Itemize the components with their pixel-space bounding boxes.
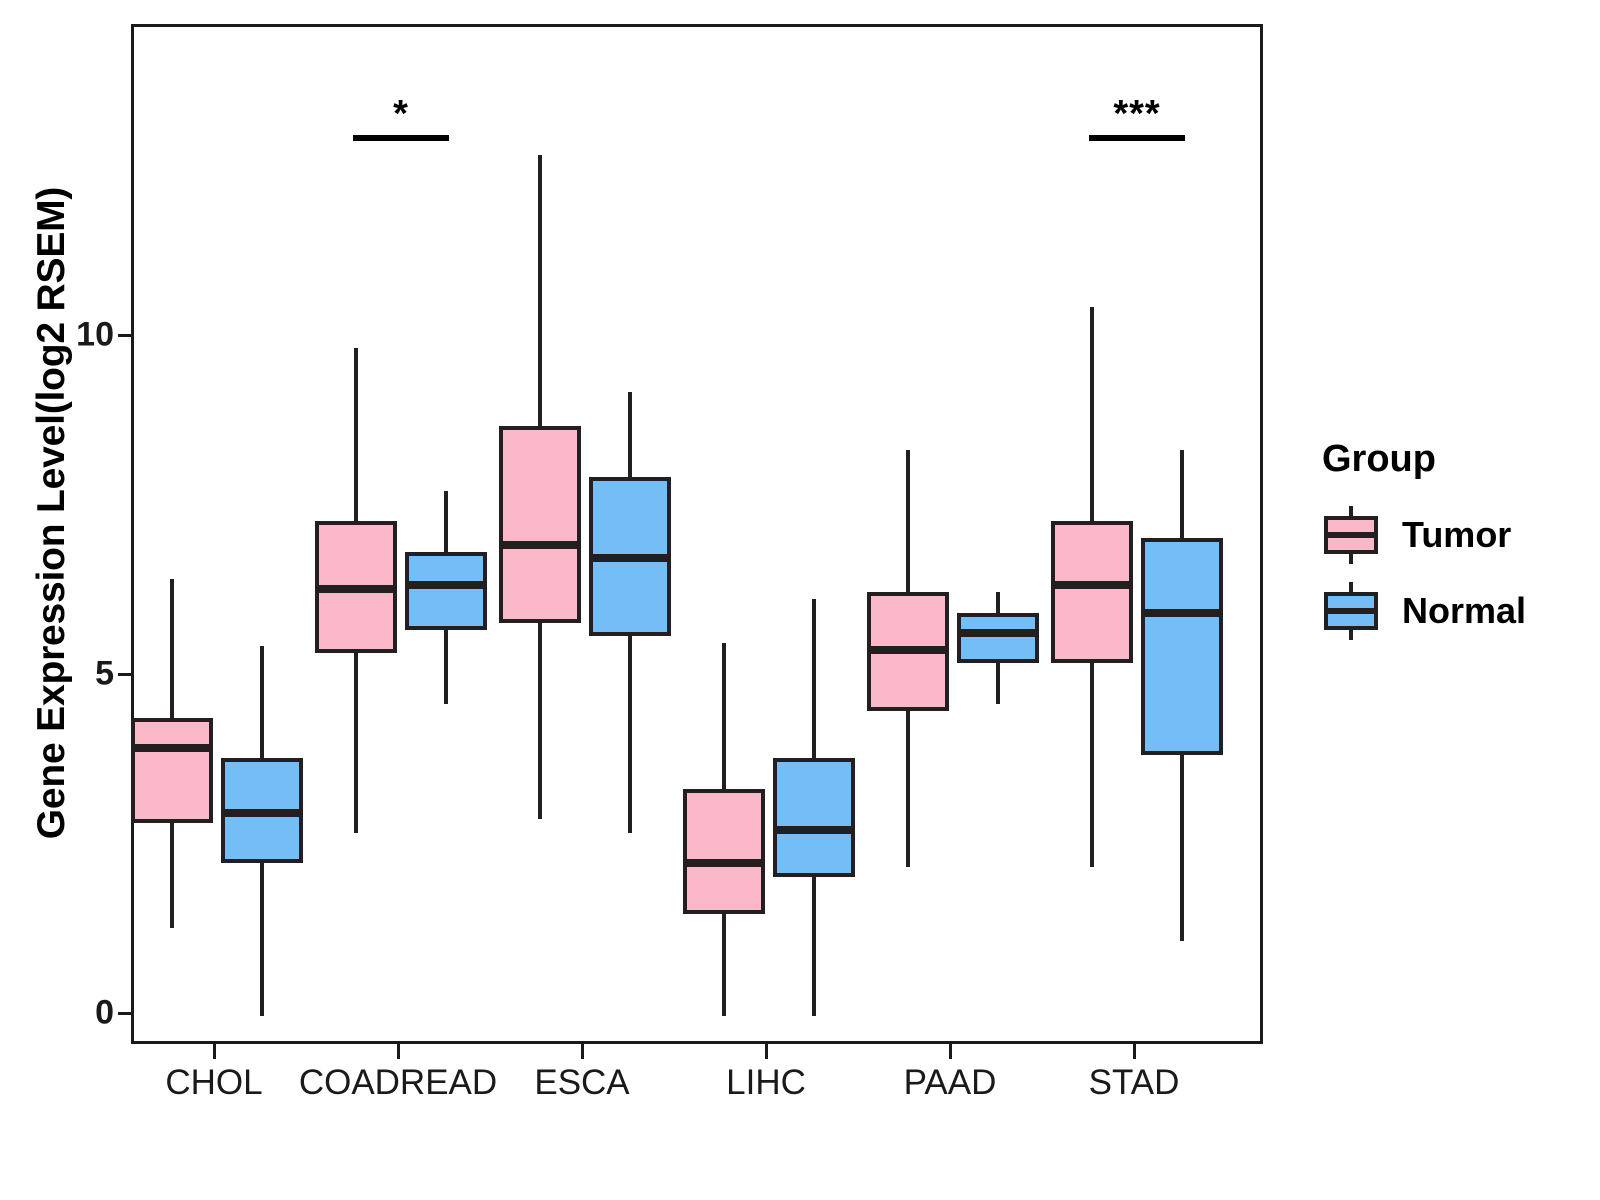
chart-root: Gene Expression Level(log2 RSEM) **** 05… [0,0,1600,1200]
x-tick-mark [1133,1044,1136,1059]
x-tick-mark [397,1044,400,1059]
x-tick-label: LIHC [726,1063,806,1103]
boxplot-box [1141,538,1223,755]
legend-title: Group [1322,440,1592,478]
x-tick-mark [765,1044,768,1059]
boxplot-box [499,426,581,623]
boxplot-median [221,809,303,817]
significance-label: *** [1113,95,1160,133]
x-tick-label: COADREAD [299,1063,497,1103]
legend-median [1324,532,1378,538]
legend-item-label: Tumor [1402,514,1511,556]
x-tick-mark [581,1044,584,1059]
x-tick-label: ESCA [534,1063,629,1103]
legend-item[interactable]: Normal [1322,580,1592,642]
x-tick-mark [949,1044,952,1059]
legend-item[interactable]: Tumor [1322,504,1592,566]
boxplot-median [867,646,949,654]
significance-bar [1089,135,1185,141]
y-tick-label: 5 [95,655,114,694]
significance-bar [353,135,449,141]
y-tick-mark [118,1012,132,1015]
x-tick-label: STAD [1089,1063,1180,1103]
boxplot-median [131,744,213,752]
boxplot-median [1051,581,1133,589]
boxplot-median [957,629,1039,637]
boxplot-median [773,826,855,834]
boxplot-median [589,554,671,562]
boxplot-median [499,541,581,549]
x-tick-label: CHOL [165,1063,262,1103]
legend: Group TumorNormal [1322,440,1592,656]
boxplot-box [957,613,1039,664]
boxplot-box [773,758,855,877]
legend-swatch-icon [1322,580,1380,642]
boxplot-box [405,552,487,630]
significance-label: * [393,95,409,133]
boxplot-median [405,581,487,589]
x-tick-label: PAAD [904,1063,997,1103]
boxplot-median [683,859,765,867]
legend-items: TumorNormal [1322,504,1592,642]
y-tick-mark [118,673,132,676]
legend-item-label: Normal [1402,590,1526,632]
plot-panel: **** [131,24,1263,1044]
legend-median [1324,608,1378,614]
boxplot-box [131,718,213,823]
y-tick-mark [118,334,132,337]
y-axis-title: Gene Expression Level(log2 RSEM) [22,3,82,1023]
x-tick-mark [213,1044,216,1059]
boxplot-box [683,789,765,914]
boxplot-median [1141,609,1223,617]
y-tick-label: 10 [76,316,114,355]
boxplot-box [1051,521,1133,663]
legend-swatch-icon [1322,504,1380,566]
plot-area: **** [134,27,1260,1041]
boxplot-median [315,585,397,593]
y-tick-label: 0 [95,994,114,1033]
